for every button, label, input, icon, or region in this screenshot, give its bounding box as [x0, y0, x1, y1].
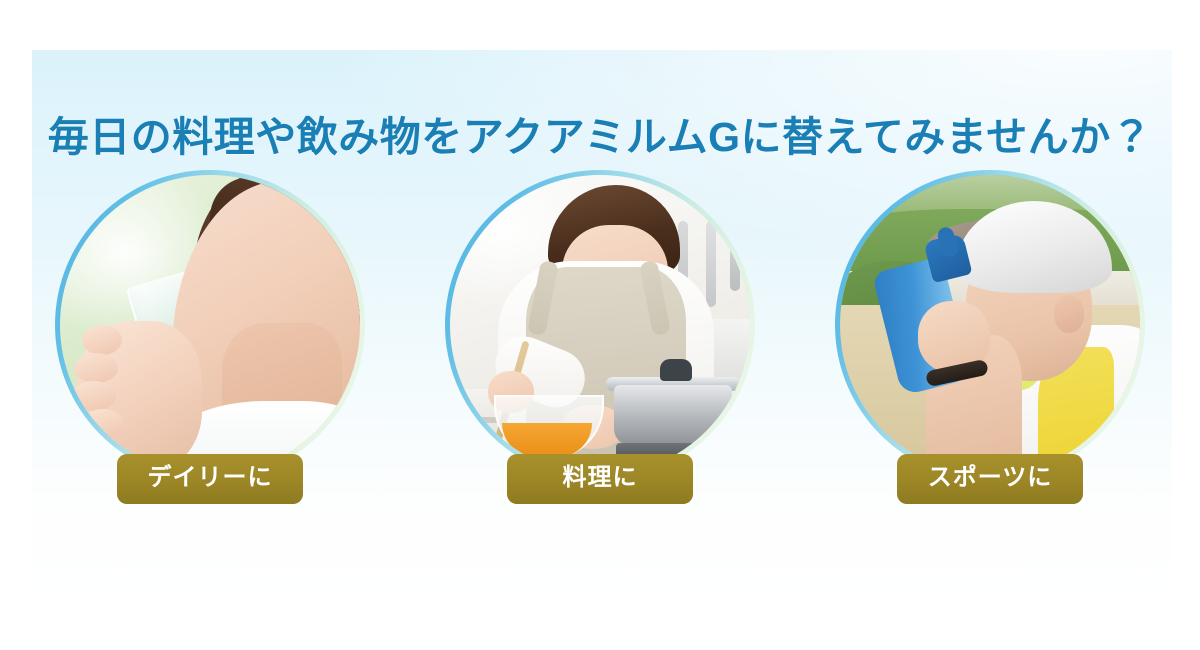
hanging-utensil-icon [730, 221, 740, 291]
usage-scene-card-sports[interactable]: スポーツに [830, 170, 1150, 530]
usage-scene-card-daily[interactable]: デイリーに [50, 170, 370, 530]
page-title: 毎日の料理や飲み物をアクアミルムGに替えてみませんか？ [0, 112, 1200, 163]
cooking-pot-icon [614, 385, 732, 445]
finger-shape [82, 325, 122, 355]
caption-pill-daily[interactable]: デイリーに [117, 454, 303, 504]
finger-shape [72, 381, 116, 411]
circle-photo-frame-cooking [445, 170, 755, 480]
caption-pill-sports[interactable]: スポーツに [897, 454, 1083, 504]
woman-drinking-water-photo [60, 175, 360, 475]
finger-shape [74, 353, 118, 383]
caption-pill-cooking[interactable]: 料理に [507, 454, 693, 504]
circle-photo-frame-daily [55, 170, 365, 480]
circle-photo-frame-sports [835, 170, 1145, 480]
usage-scene-card-list: デイリーに [50, 170, 1150, 530]
ear-shape [1054, 295, 1084, 333]
finger-shape [82, 409, 124, 439]
usage-scene-card-cooking[interactable]: 料理に [440, 170, 760, 530]
hanging-utensil-icon [706, 221, 716, 307]
pot-knob-shape [660, 359, 692, 381]
man-drinking-sports-bottle-photo [840, 175, 1140, 475]
promo-banner: 毎日の料理や飲み物をアクアミルムGに替えてみませんか？ [0, 0, 1200, 650]
woman-cooking-photo [450, 175, 750, 475]
